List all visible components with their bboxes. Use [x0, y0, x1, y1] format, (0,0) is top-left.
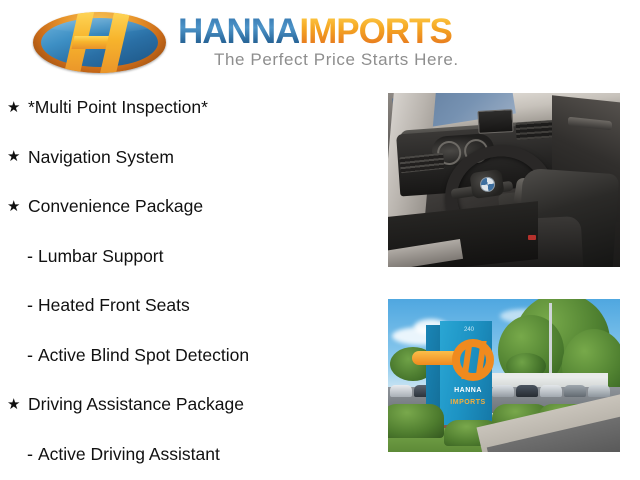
feature-label: Heated Front Seats	[38, 294, 190, 316]
sign-logo-ring-icon	[452, 339, 494, 381]
star-bullet-icon: ★	[7, 100, 28, 115]
vehicle-interior-photo	[388, 93, 620, 267]
feature-label: *Multi Point Inspection*	[28, 96, 208, 118]
brand-word-hanna: HANNA	[178, 12, 299, 51]
steering-wheel-hub	[469, 169, 504, 199]
dash-bullet-icon: -	[27, 346, 38, 364]
sign-street-number: 240	[454, 327, 484, 333]
parked-car	[540, 385, 562, 397]
hedge	[388, 404, 444, 438]
star-bullet-icon: ★	[7, 199, 28, 214]
feature-label: Navigation System	[28, 146, 174, 168]
parked-car	[492, 385, 514, 397]
sign-brand-line2: IMPORTS	[444, 399, 492, 406]
parked-car	[390, 385, 412, 397]
feature-item: ★Convenience Package	[0, 195, 380, 217]
brand-header: HANNAIMPORTS The Perfect Price Starts He…	[0, 0, 640, 88]
parked-car	[588, 385, 610, 397]
feature-label: Active Blind Spot Detection	[38, 344, 249, 366]
feature-item: ★*Multi Point Inspection*	[0, 96, 380, 118]
interior-scene	[388, 93, 620, 267]
feature-subitem: -Heated Front Seats	[0, 294, 380, 316]
dash-bullet-icon: -	[27, 445, 38, 463]
dealership-scene: 240 HANNA IMPORTS	[388, 299, 620, 452]
parked-car	[564, 385, 586, 397]
brand-word-imports: IMPORTS	[299, 12, 451, 51]
feature-label: Driving Assistance Package	[28, 393, 244, 415]
feature-subitem: -Lumbar Support	[0, 245, 380, 267]
feature-label: Active Driving Assistant	[38, 443, 220, 465]
parked-car	[516, 385, 538, 397]
star-bullet-icon: ★	[7, 397, 28, 412]
feature-subitem: -Active Driving Assistant	[0, 443, 380, 465]
star-bullet-icon: ★	[7, 149, 28, 164]
dash-bullet-icon: -	[27, 296, 38, 314]
hanna-oval-h-logo-icon	[33, 12, 166, 73]
brand-wordmark: HANNAIMPORTS	[178, 14, 452, 50]
logo-h-glyph	[33, 12, 166, 73]
feature-item: ★Navigation System	[0, 146, 380, 168]
sign-brand-line1: HANNA	[446, 387, 490, 394]
console-indicator	[528, 235, 536, 240]
feature-item: ★Driving Assistance Package	[0, 393, 380, 415]
feature-subitem: -Active Blind Spot Detection	[0, 344, 380, 366]
dash-bullet-icon: -	[27, 247, 38, 265]
feature-label: Lumbar Support	[38, 245, 164, 267]
feature-label: Convenience Package	[28, 195, 203, 217]
infotainment-screen	[477, 109, 513, 134]
brand-tagline: The Perfect Price Starts Here.	[214, 50, 459, 70]
dealership-sign-photo: 240 HANNA IMPORTS	[388, 299, 620, 452]
